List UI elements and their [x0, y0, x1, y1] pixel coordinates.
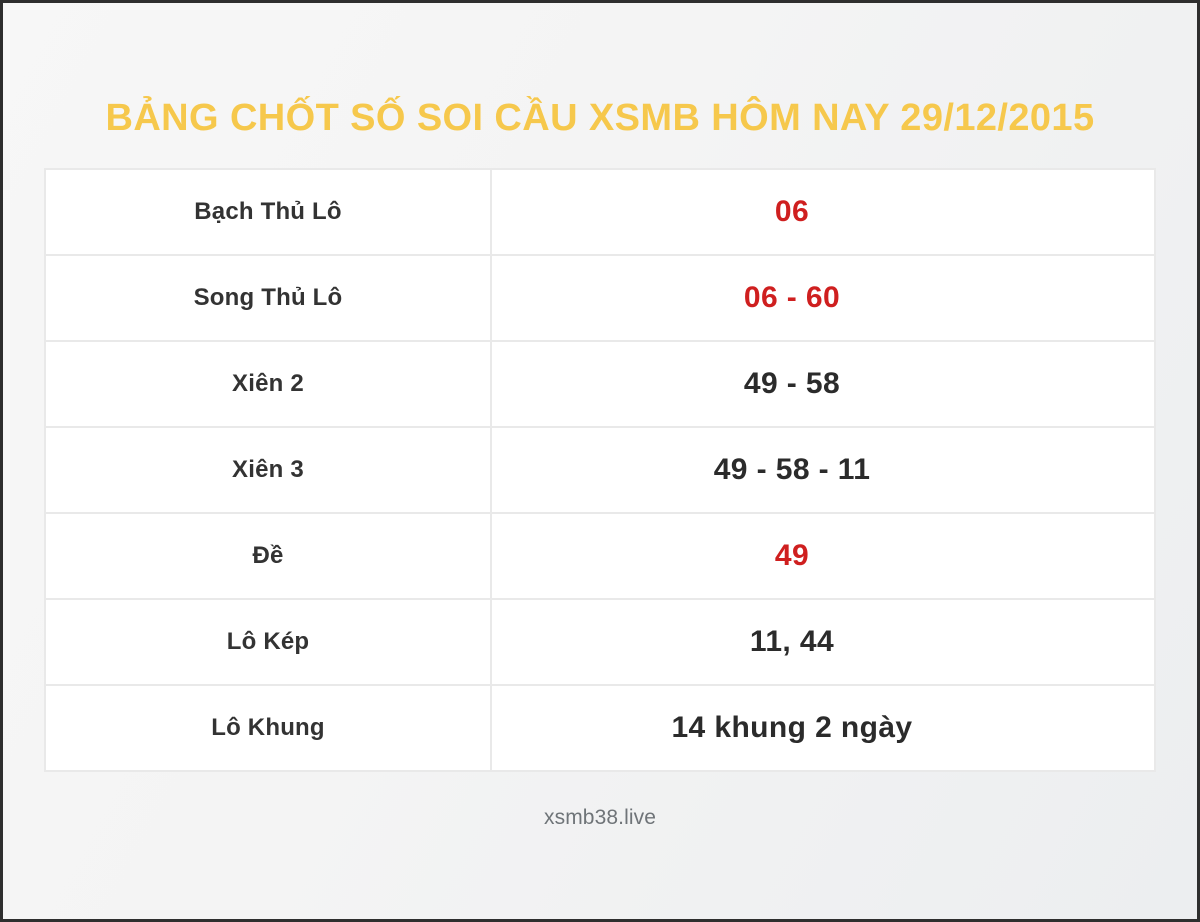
prediction-value: 14 khung 2 ngày	[491, 685, 1155, 771]
table-row: Đề49	[45, 513, 1155, 599]
prediction-label: Lô Kép	[45, 599, 491, 685]
prediction-table-container: Bạch Thủ Lô06Song Thủ Lô06 - 60Xiên 249 …	[44, 168, 1156, 772]
prediction-table-body: Bạch Thủ Lô06Song Thủ Lô06 - 60Xiên 249 …	[45, 169, 1155, 771]
table-row: Bạch Thủ Lô06	[45, 169, 1155, 255]
prediction-label: Xiên 3	[45, 427, 491, 513]
table-row: Song Thủ Lô06 - 60	[45, 255, 1155, 341]
page-title: BẢNG CHỐT SỐ SOI CẦU XSMB HÔM NAY 29/12/…	[106, 98, 1095, 140]
table-row: Lô Kép11, 44	[45, 599, 1155, 685]
prediction-value: 11, 44	[491, 599, 1155, 685]
prediction-value: 49 - 58 - 11	[491, 427, 1155, 513]
prediction-label: Bạch Thủ Lô	[45, 169, 491, 255]
site-watermark: xsmb38.live	[544, 806, 656, 830]
prediction-value: 49 - 58	[491, 341, 1155, 427]
table-row: Xiên 349 - 58 - 11	[45, 427, 1155, 513]
prediction-value: 49	[491, 513, 1155, 599]
prediction-value: 06 - 60	[491, 255, 1155, 341]
prediction-label: Đề	[45, 513, 491, 599]
prediction-label: Xiên 2	[45, 341, 491, 427]
table-row: Xiên 249 - 58	[45, 341, 1155, 427]
prediction-label: Lô Khung	[45, 685, 491, 771]
prediction-table: Bạch Thủ Lô06Song Thủ Lô06 - 60Xiên 249 …	[44, 168, 1156, 772]
prediction-value: 06	[491, 169, 1155, 255]
table-row: Lô Khung14 khung 2 ngày	[45, 685, 1155, 771]
prediction-label: Song Thủ Lô	[45, 255, 491, 341]
lottery-prediction-page: BẢNG CHỐT SỐ SOI CẦU XSMB HÔM NAY 29/12/…	[0, 0, 1200, 922]
